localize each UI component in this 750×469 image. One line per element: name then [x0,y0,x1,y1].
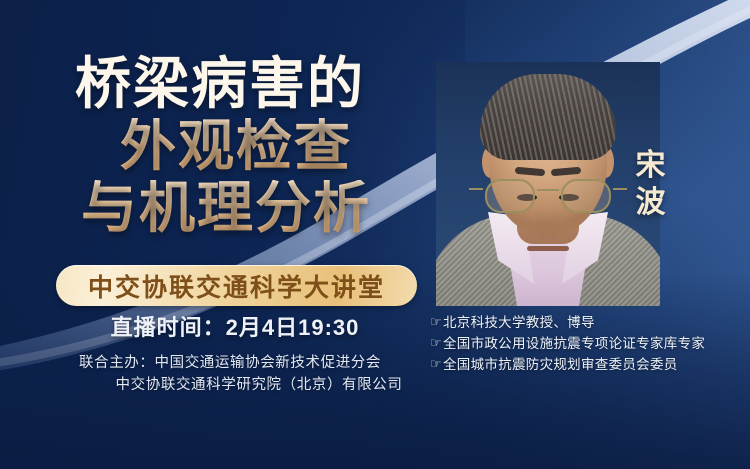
title-line-2: 外观检查 [42,118,430,174]
credential-item: ☞ 全国市政公用设施抗震专项论证专家库专家 [430,333,750,354]
credential-item: ☞ 北京科技大学教授、博导 [430,312,750,333]
speaker-name-char-2: 波 [628,185,674,222]
portrait-brow-right [515,167,545,177]
credential-text: 北京科技大学教授、博导 [443,312,595,333]
speaker-credentials: ☞ 北京科技大学教授、博导 ☞ 全国市政公用设施抗震专项论证专家库专家 ☞ 全国… [430,312,750,375]
speaker-portrait [436,62,660,306]
credential-item: ☞ 全国城市抗震防灾规划审查委员会委员 [430,354,750,375]
glasses-lens-left [485,179,535,213]
credential-text: 全国城市抗震防灾规划审查委员会委员 [443,354,678,375]
portrait-brow-left [551,167,581,177]
program-badge-label: 中交协联交通科学大讲堂 [88,268,385,304]
speaker-name: 宋 波 [628,148,674,221]
poster-title: 桥梁病害的 外观检查 与机理分析 [0,56,430,236]
title-line-3: 与机理分析 [22,180,430,236]
pointing-hand-icon: ☞ [430,312,442,332]
glasses-bridge [537,189,559,191]
organizer-line-2: 中交协联交通科学研究院（北京）有限公司 [0,374,460,396]
pointing-hand-icon: ☞ [430,354,442,374]
organizers-block: 联合主办：中国交通运输协会新技术促进分会 中交协联交通科学研究院（北京）有限公司 [0,352,460,397]
webinar-poster: 桥梁病害的 外观检查 与机理分析 中交协联交通科学大讲堂 直播时间：2月4日19… [0,0,750,469]
credential-text: 全国市政公用设施抗震专项论证专家库专家 [443,333,705,354]
pointing-hand-icon: ☞ [430,333,442,353]
portrait-hair [480,74,616,160]
speaker-name-char-1: 宋 [628,148,674,185]
organizer-line-1: 联合主办：中国交通运输协会新技术促进分会 [0,352,460,374]
glasses-temple-left [469,188,483,190]
glasses-temple-right [613,188,627,190]
title-line-1: 桥梁病害的 [10,56,430,112]
eyeglasses-icon [481,179,615,215]
broadcast-time: 直播时间：2月4日19:30 [0,310,470,342]
program-badge: 中交协联交通科学大讲堂 [56,265,417,306]
glasses-lens-right [561,179,611,213]
portrait-mouth [527,246,569,251]
